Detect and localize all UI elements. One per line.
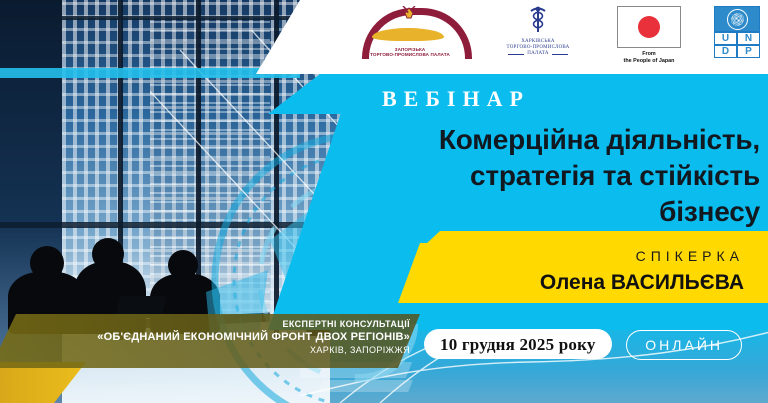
rule-left xyxy=(508,54,524,55)
project-line-1: ЕКСПЕРТНІ КОНСУЛЬТАЦІЇ xyxy=(10,318,410,330)
zaporizhzhia-chamber-logo: ЗАПОРІЗЬКА ТОРГОВО-ПРОМИСЛОВА ПАЛАТА xyxy=(354,6,466,58)
title-line-3: бізнесу xyxy=(372,194,760,230)
japan-flag-sun xyxy=(638,16,660,38)
un-emblem-icon xyxy=(714,6,760,32)
webinar-banner: ЗАПОРІЗЬКА ТОРГОВО-ПРОМИСЛОВА ПАЛАТА ХАР… xyxy=(0,0,768,403)
undp-logo: U N D P xyxy=(714,6,760,58)
speaker-band-top-edge xyxy=(426,231,768,244)
title-line-2: стратегія та стійкість xyxy=(372,158,760,194)
chamber-wing-shape xyxy=(372,28,444,41)
undp-letter-d: D xyxy=(714,45,737,58)
zaporizhzhia-logo-line2: ТОРГОВО-ПРОМИСЛОВА ПАЛАТА xyxy=(354,52,466,58)
cyan-accent-line xyxy=(0,68,300,78)
title-line-1: Комерційна діяльність, xyxy=(372,122,760,158)
japan-logo-text: From the People of Japan xyxy=(624,51,675,64)
japan-flag-logo: From the People of Japan xyxy=(610,6,688,64)
undp-letter-u: U xyxy=(714,32,737,45)
speaker-label: СПІКЕРКА xyxy=(636,249,744,263)
zaporizhzhia-logo-text: ЗАПОРІЗЬКА ТОРГОВО-ПРОМИСЛОВА ПАЛАТА xyxy=(354,47,466,58)
project-line-3: ХАРКІВ, ЗАПОРІЖЖЯ xyxy=(10,344,410,357)
undp-letter-grid: U N D P xyxy=(714,32,760,58)
undp-letter-n: N xyxy=(737,32,760,45)
caduceus-icon xyxy=(525,6,551,39)
project-text: ЕКСПЕРТНІ КОНСУЛЬТАЦІЇ «ОБ'ЄДНАНИЙ ЕКОНО… xyxy=(10,318,410,357)
date-badge: 10 грудня 2025 року xyxy=(424,329,612,359)
kharkiv-logo-line3: ПАЛАТА xyxy=(527,51,548,57)
logo-row: ЗАПОРІЗЬКА ТОРГОВО-ПРОМИСЛОВА ПАЛАТА ХАР… xyxy=(354,6,760,64)
japan-logo-line2: the People of Japan xyxy=(624,58,675,65)
format-badge-online: ОНЛАЙН xyxy=(626,330,742,360)
rule-right xyxy=(552,54,568,55)
kharkiv-chamber-logo: ХАРКІВСЬКА ТОРГОВО-ПРОМИСЛОВА ПАЛАТА xyxy=(492,6,584,58)
japan-logo-line1: From xyxy=(624,51,675,58)
undp-letter-p: P xyxy=(737,45,760,58)
speaker-name: Олена ВАСИЛЬЄВА xyxy=(540,272,744,293)
kicker-webinar: ВЕБІНАР xyxy=(382,88,530,110)
un-globe-wreath xyxy=(727,9,748,30)
page-title: Комерційна діяльність, стратегія та стій… xyxy=(372,122,760,230)
kharkiv-logo-line3-row: ПАЛАТА xyxy=(508,51,567,57)
japan-flag-icon xyxy=(617,6,681,48)
project-line-2: «ОБ'ЄДНАНИЙ ЕКОНОМІЧНИЙ ФРОНТ ДВОХ РЕГІО… xyxy=(10,330,410,344)
